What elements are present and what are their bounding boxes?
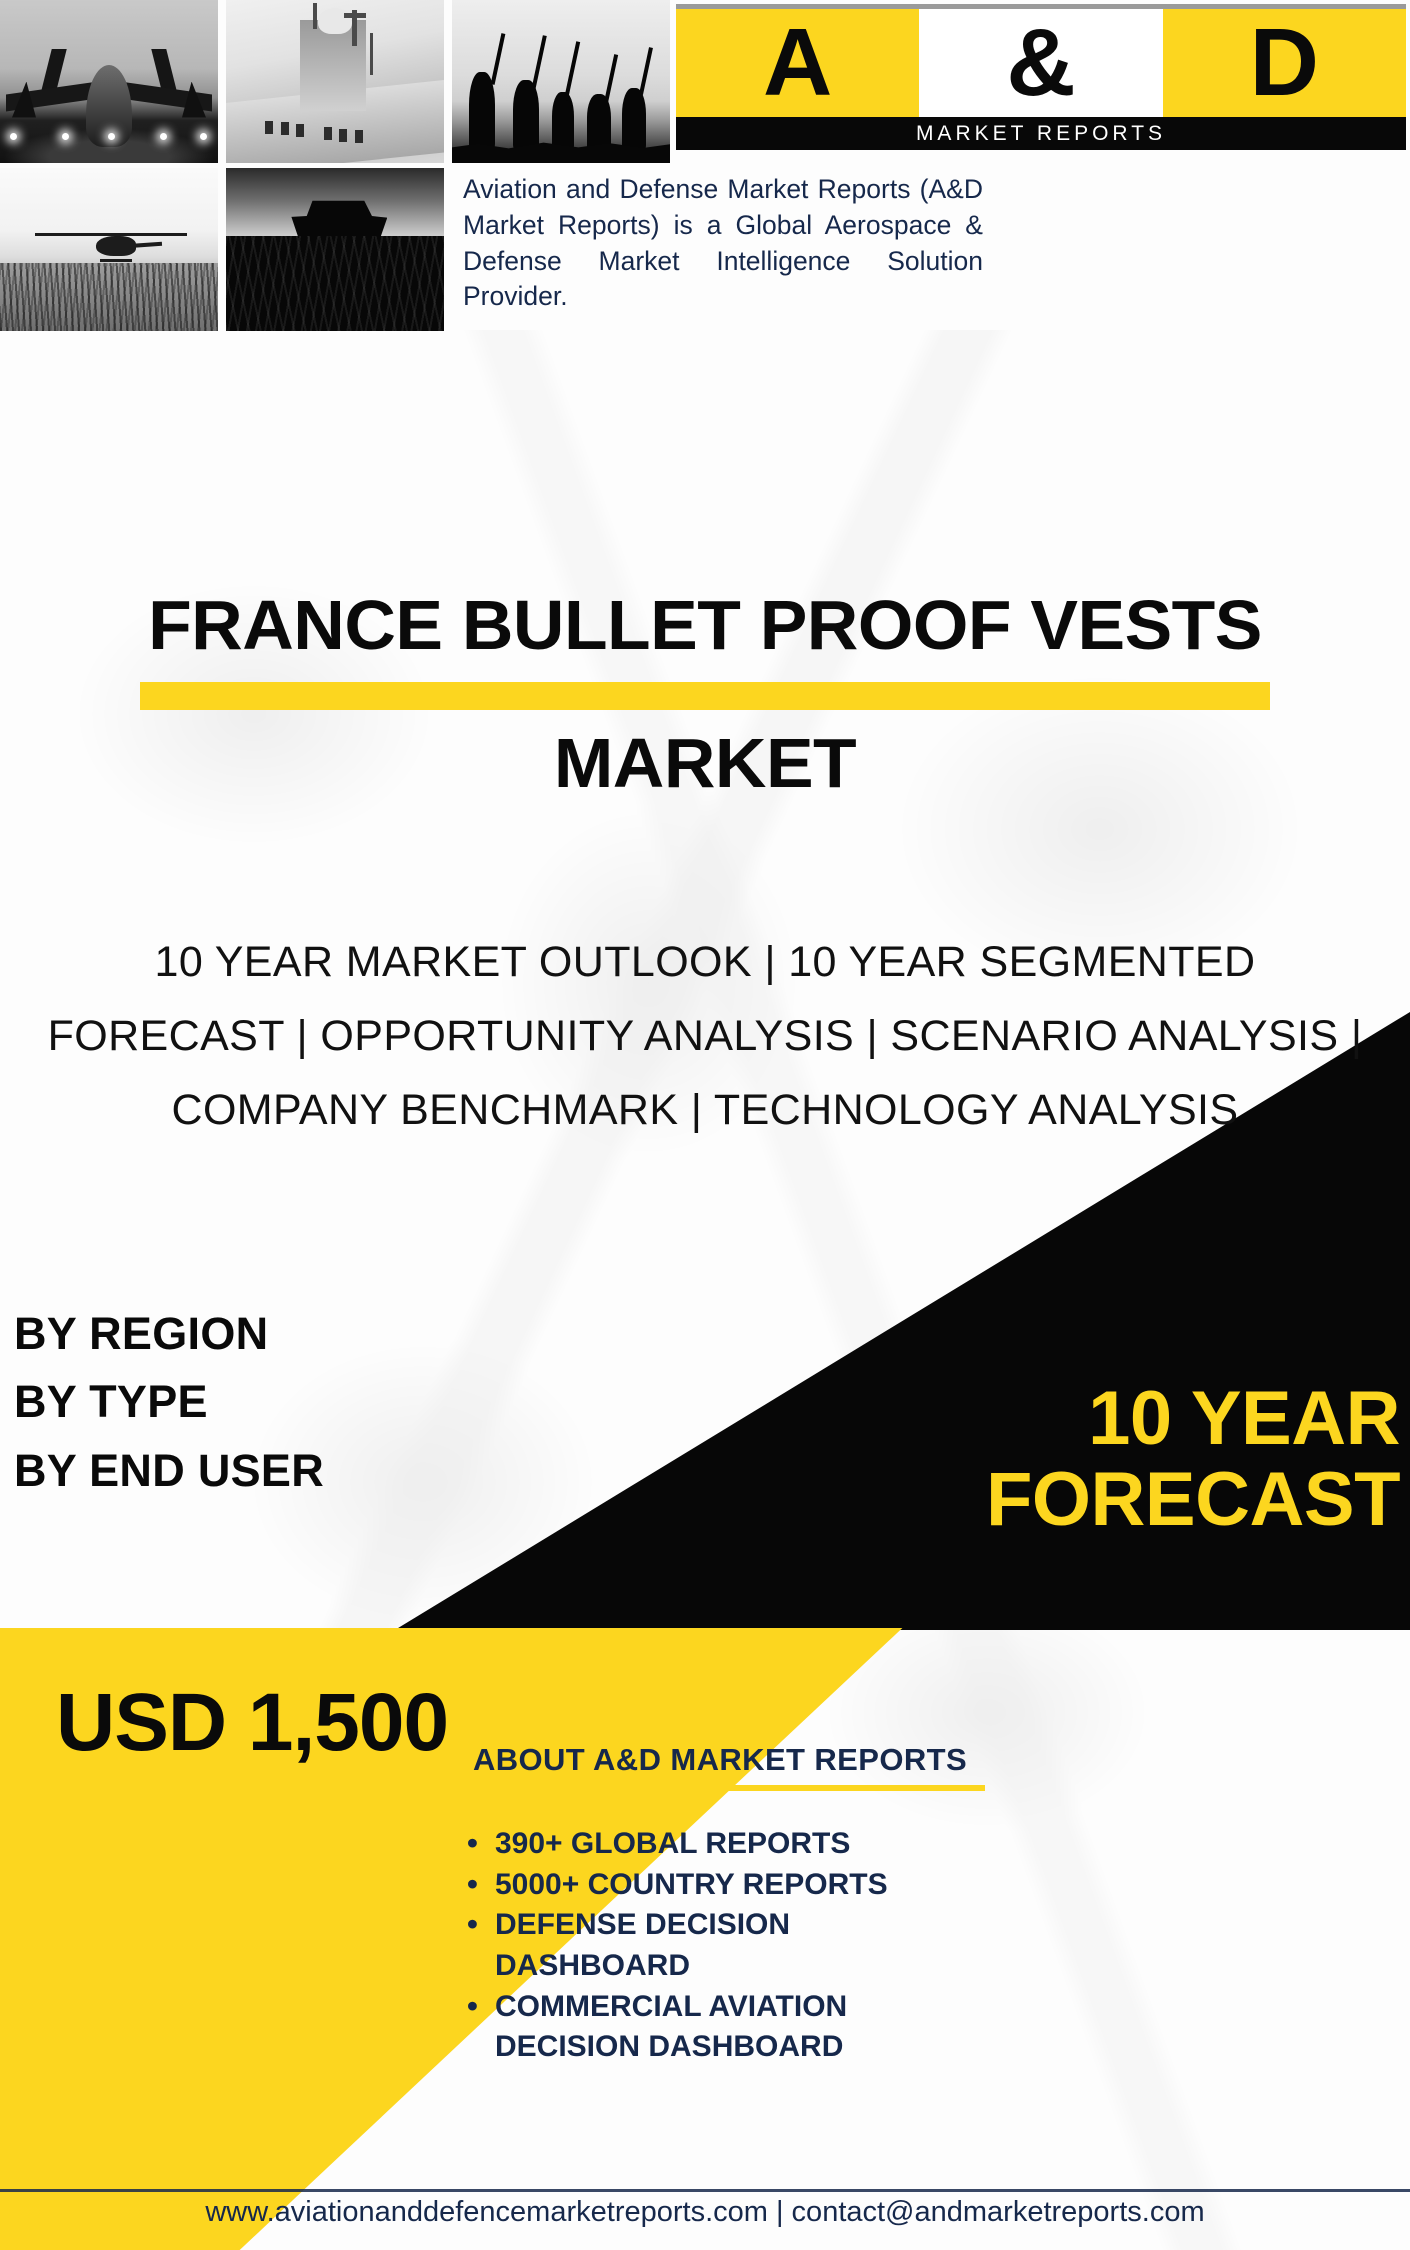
logo-letter-cells: A & D xyxy=(676,9,1406,117)
segment-by-type: BY TYPE xyxy=(14,1368,324,1436)
about-bullet-list: 390+ GLOBAL REPORTS 5000+ COUNTRY REPORT… xyxy=(455,1825,985,2067)
about-item-defense-dashboard-cont: DASHBOARD xyxy=(455,1947,985,1986)
report-scope-subtitle: 10 YEAR MARKET OUTLOOK | 10 YEAR SEGMENT… xyxy=(35,926,1375,1148)
about-heading: ABOUT A&D MARKET REPORTS xyxy=(455,1742,985,1778)
logo-market-reports-band: MARKET REPORTS xyxy=(676,117,1406,150)
segment-by-end-user: BY END USER xyxy=(14,1437,324,1505)
photo-fighter-jet xyxy=(0,0,218,163)
photo-armoured-vehicle xyxy=(226,168,444,331)
segmentation-list: BY REGION BY TYPE BY END USER xyxy=(14,1300,324,1505)
ten-year-forecast-badge: 10 YEAR FORECAST xyxy=(680,1378,1400,1541)
segment-by-region: BY REGION xyxy=(14,1300,324,1368)
about-item-country-reports: 5000+ COUNTRY REPORTS xyxy=(455,1866,985,1905)
about-yellow-rule xyxy=(455,1785,985,1791)
ad-market-reports-logo: A & D MARKET REPORTS xyxy=(676,4,1406,150)
about-item-commercial-aviation-cont: DECISION DASHBOARD xyxy=(455,2028,985,2067)
about-item-global-reports: 390+ GLOBAL REPORTS xyxy=(455,1825,985,1864)
about-item-commercial-aviation: COMMERCIAL AVIATION xyxy=(455,1988,985,2027)
logo-letter-a: A xyxy=(676,9,919,117)
about-panel: ABOUT A&D MARKET REPORTS 390+ GLOBAL REP… xyxy=(455,1742,985,2069)
about-item-defense-dashboard: DEFENSE DECISION xyxy=(455,1906,985,1945)
title-yellow-rule xyxy=(140,682,1270,710)
title-line-1: FRANCE BULLET PROOF VESTS xyxy=(0,588,1410,662)
company-intro-text: Aviation and Defense Market Reports (A&D… xyxy=(463,172,983,315)
price-label: USD 1,500 xyxy=(56,1676,448,1770)
photo-helicopter xyxy=(0,168,218,331)
footer-divider xyxy=(0,2189,1410,2192)
logo-letter-amp: & xyxy=(919,9,1162,117)
photo-aircraft-carrier xyxy=(226,0,444,163)
forecast-line-1: 10 YEAR xyxy=(680,1378,1400,1459)
page-title: FRANCE BULLET PROOF VESTS MARKET xyxy=(0,588,1410,800)
photo-soldiers xyxy=(452,0,670,163)
forecast-line-2: FORECAST xyxy=(680,1459,1400,1540)
title-line-2: MARKET xyxy=(0,726,1410,800)
logo-letter-d: D xyxy=(1163,9,1406,117)
footer-contact: www.aviationanddefencemarketreports.com … xyxy=(0,2196,1410,2229)
